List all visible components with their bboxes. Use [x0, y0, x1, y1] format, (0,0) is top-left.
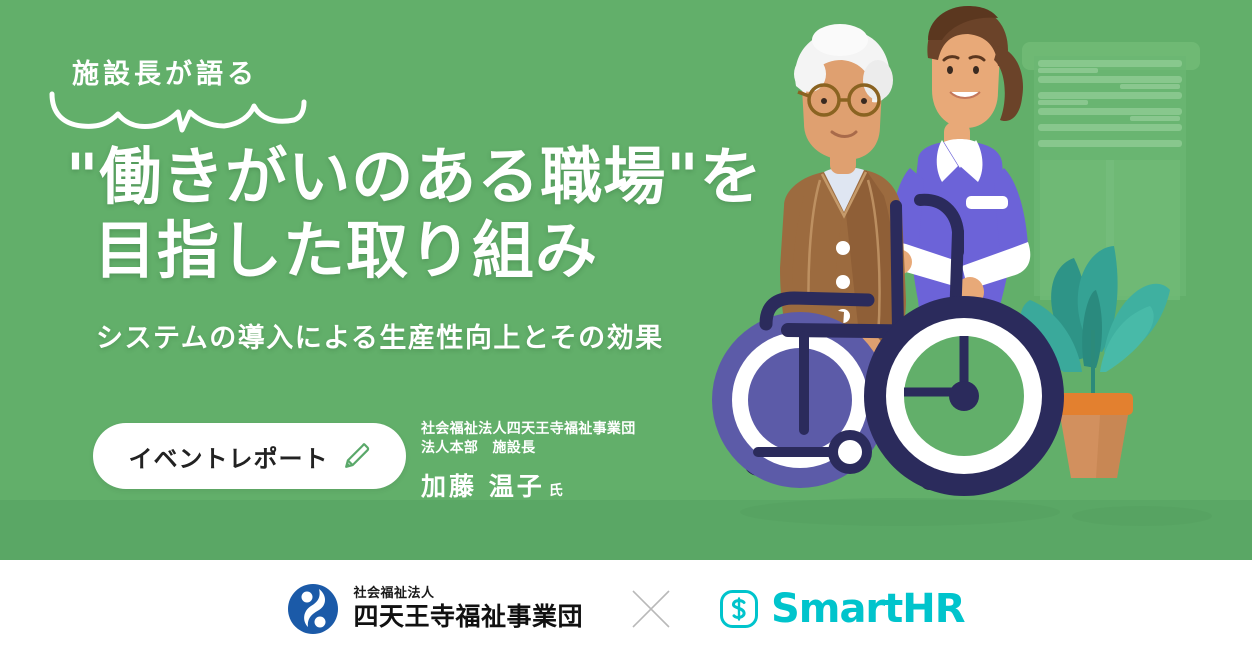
event-report-button-label: イベントレポート	[129, 439, 329, 474]
hero-section: 施設長が語る "働きがいのある職場"を 目指した取り組み システムの導入による生…	[0, 0, 1252, 560]
speaker-name-row: 加藤 温子 氏	[421, 467, 691, 503]
page-title: "働きがいのある職場"を 目指した取り組み	[66, 140, 826, 288]
eyebrow-group: 施設長が語る	[48, 52, 348, 142]
client-logo: 社会福祉法人 四天王寺福祉事業団	[287, 583, 583, 635]
speaker-department: 法人本部 施設長	[421, 439, 691, 458]
footer-logos: 社会福祉法人 四天王寺福祉事業団 SmartHR	[0, 560, 1252, 657]
cross-separator-icon	[629, 587, 673, 631]
event-report-banner: 施設長が語る "働きがいのある職場"を 目指した取り組み システムの導入による生…	[0, 0, 1252, 657]
eyebrow-label: 施設長が語る	[72, 52, 258, 91]
smarthr-wordmark: SmartHR	[771, 589, 965, 629]
speaker-info: 社会福祉法人四天王寺福祉事業団 法人本部 施設長 加藤 温子 氏	[421, 420, 691, 503]
swirl-circle-icon	[287, 583, 339, 635]
speaker-honorific: 氏	[549, 480, 563, 500]
headline-line-2: 目指した取り組み	[94, 214, 826, 288]
subtitle: システムの導入による生産性向上とその効果	[96, 316, 664, 355]
smarthr-s-icon	[719, 589, 759, 629]
client-logo-text: 社会福祉法人 四天王寺福祉事業団	[353, 585, 583, 632]
event-report-button[interactable]: イベントレポート	[93, 423, 406, 489]
speaker-organization: 社会福祉法人四天王寺福祉事業団	[421, 420, 691, 439]
client-logo-name: 四天王寺福祉事業団	[353, 602, 583, 632]
headline-line-1: "働きがいのある職場"を	[66, 140, 826, 214]
pencil-icon	[341, 441, 371, 471]
client-logo-kana: 社会福祉法人	[353, 585, 583, 602]
speaker-name: 加藤 温子	[421, 467, 545, 503]
speech-bubble-wave-icon	[48, 90, 308, 138]
smarthr-logo: SmartHR	[719, 589, 965, 629]
